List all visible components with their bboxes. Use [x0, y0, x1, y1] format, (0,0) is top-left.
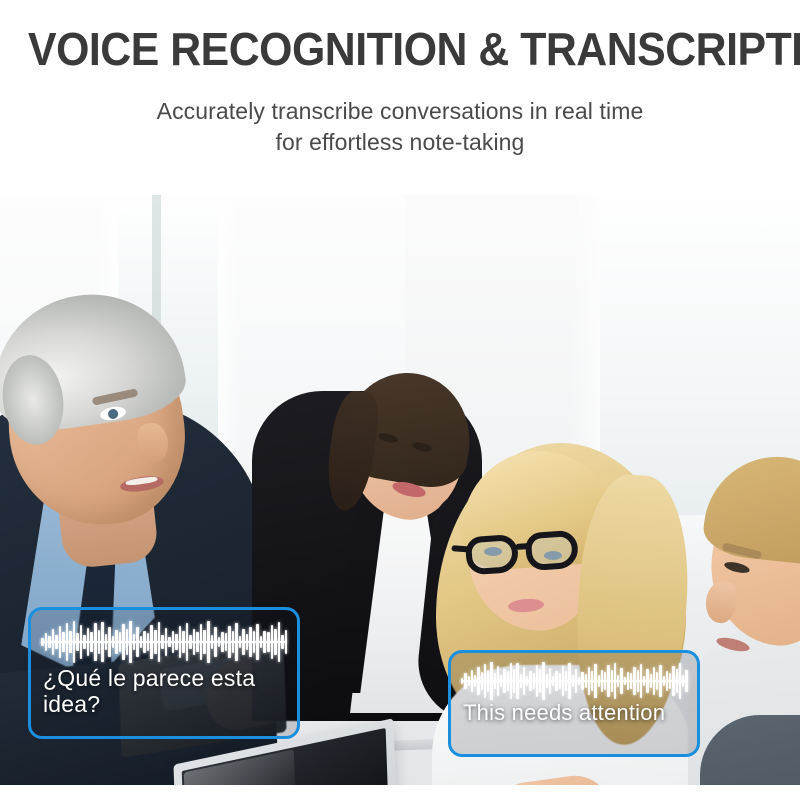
subtitle-line-1: Accurately transcribe conversations in r… [0, 96, 800, 127]
temple-arm [451, 545, 469, 552]
meeting-photo: ¿Qué le parece esta idea? This needs att… [0, 195, 800, 785]
bottom-margin [0, 785, 800, 800]
bridge [515, 543, 529, 550]
transcription-bubble-attention[interactable]: This needs attention [448, 650, 700, 757]
product-feature-banner: VOICE RECOGNITION & TRANSCRIPTION Accura… [0, 0, 800, 800]
transcription-caption: This needs attention [463, 701, 689, 726]
header-section: VOICE RECOGNITION & TRANSCRIPTION Accura… [0, 0, 800, 195]
waveform-attention [461, 661, 687, 701]
lens-right [525, 530, 580, 572]
page-subtitle: Accurately transcribe conversations in r… [0, 96, 800, 157]
subtitle-line-2: for effortless note-taking [0, 127, 800, 158]
waveform-centerline [461, 680, 687, 682]
transcription-caption: ¿Qué le parece esta idea? [43, 666, 289, 718]
transcription-bubble-spanish[interactable]: ¿Qué le parece esta idea? [28, 607, 300, 739]
waveform-centerline [41, 641, 287, 643]
waveform-spanish [41, 620, 287, 664]
lens-left [465, 534, 520, 576]
page-title: VOICE RECOGNITION & TRANSCRIPTION [28, 26, 772, 72]
